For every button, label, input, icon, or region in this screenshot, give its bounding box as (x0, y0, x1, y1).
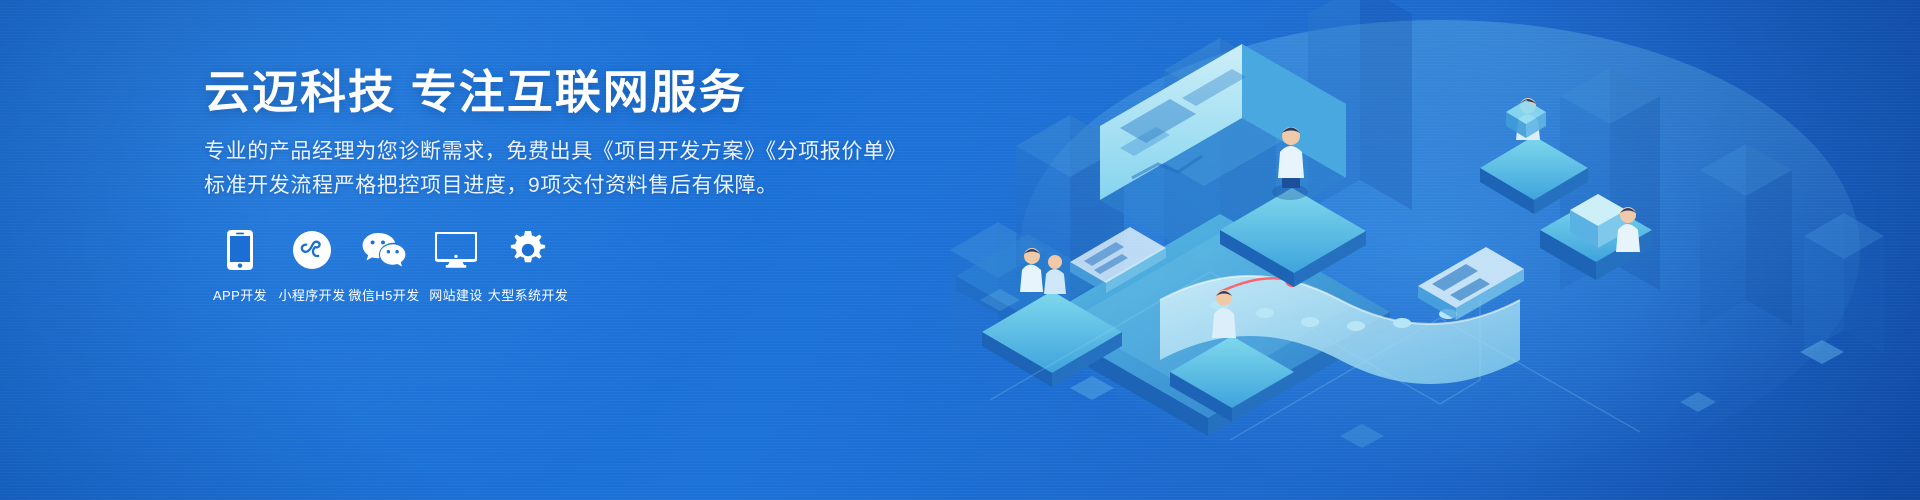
wechat-icon (362, 230, 406, 270)
isometric-illustration (920, 0, 1920, 500)
service-label: 小程序开发 (278, 285, 345, 304)
service-list: APP开发 小程序开发 (204, 230, 564, 304)
mini-program-icon (293, 230, 331, 270)
monitor-icon (435, 230, 477, 270)
service-item-app[interactable]: APP开发 (204, 230, 276, 304)
hero-banner: 云迈科技 专注互联网服务 专业的产品经理为您诊断需求，免费出具《项目开发方案》《… (0, 0, 1920, 500)
mobile-phone-icon (227, 230, 253, 270)
page-title: 云迈科技 专注互联网服务 (204, 66, 904, 119)
banner-copy: 云迈科技 专注互联网服务 专业的产品经理为您诊断需求，免费出具《项目开发方案》《… (204, 66, 904, 203)
subtitle-line-2: 标准开发流程严格把控项目进度，9项交付资料售后有保障。 (204, 169, 904, 203)
subtitle-line-1: 专业的产品经理为您诊断需求，免费出具《项目开发方案》《分项报价单》 (204, 135, 904, 169)
service-label: 网站建设 (429, 285, 483, 304)
service-label: 大型系统开发 (488, 285, 568, 304)
banner-subtitle: 专业的产品经理为您诊断需求，免费出具《项目开发方案》《分项报价单》 标准开发流程… (204, 135, 904, 203)
service-item-wechat-h5[interactable]: 微信H5开发 (348, 230, 420, 304)
service-item-large-system[interactable]: 大型系统开发 (492, 230, 564, 304)
service-label: APP开发 (213, 285, 267, 304)
service-label: 微信H5开发 (348, 285, 419, 304)
gear-icon (509, 230, 547, 270)
service-item-mini-program[interactable]: 小程序开发 (276, 230, 348, 304)
service-item-website[interactable]: 网站建设 (420, 230, 492, 304)
